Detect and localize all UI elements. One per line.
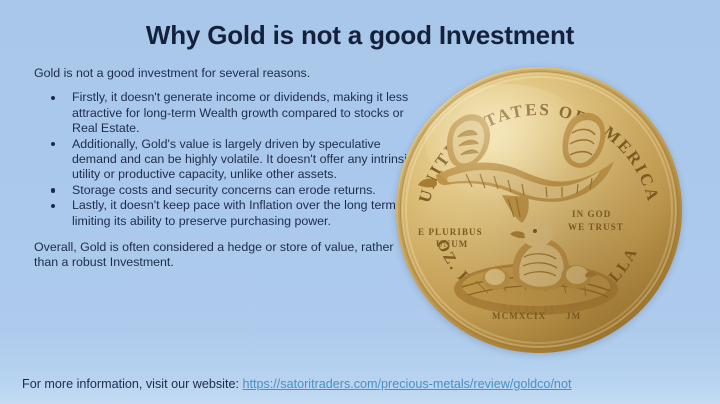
slide-canvas: Why Gold is not a good Investment Gold i…	[0, 0, 720, 404]
intro-paragraph: Gold is not a good investment for severa…	[34, 66, 416, 81]
closing-paragraph: Overall, Gold is often considered a hedg…	[34, 240, 416, 271]
gold-coin-image: UNITED STATES OF AMERICA 1 OZ. FINE GOLD…	[396, 67, 682, 353]
reasons-list: Firstly, it doesn't generate income or d…	[34, 90, 416, 229]
bullet-dot-icon	[51, 142, 55, 146]
list-item: Storage costs and security concerns can …	[34, 183, 416, 198]
coin-rim	[398, 69, 680, 351]
list-item: Additionally, Gold's value is largely dr…	[34, 137, 416, 183]
coin-face: UNITED STATES OF AMERICA 1 OZ. FINE GOLD…	[396, 67, 682, 353]
list-item: Lastly, it doesn't keep pace with Inflat…	[34, 198, 416, 229]
list-item-text: Firstly, it doesn't generate income or d…	[72, 90, 408, 135]
bullet-dot-icon	[51, 188, 55, 192]
bullet-dot-icon	[51, 96, 55, 100]
list-item-text: Additionally, Gold's value is largely dr…	[72, 137, 413, 182]
page-title: Why Gold is not a good Investment	[0, 20, 720, 51]
list-item-text: Storage costs and security concerns can …	[72, 183, 376, 197]
footer-line: For more information, visit our website:…	[22, 377, 571, 391]
bullet-dot-icon	[51, 204, 55, 208]
list-item: Firstly, it doesn't generate income or d…	[34, 90, 416, 136]
website-link[interactable]: https://satoritraders.com/precious-metal…	[242, 377, 571, 391]
footer-lead-text: For more information, visit our website:	[22, 377, 239, 391]
body-text-column: Gold is not a good investment for severa…	[34, 66, 416, 271]
list-item-text: Lastly, it doesn't keep pace with Inflat…	[72, 198, 399, 227]
